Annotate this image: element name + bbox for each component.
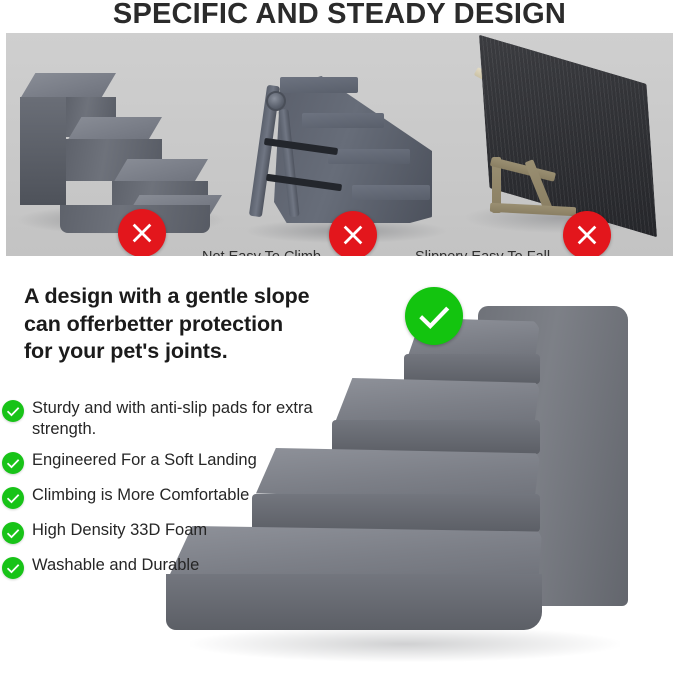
check-circle-icon [2, 487, 24, 509]
x-badge-icon [329, 211, 377, 256]
foam-stairs-illustration [14, 55, 226, 237]
comparison-panel: Not Easy To Climb Slippery Easy To Fall [6, 33, 673, 256]
check-circle-icon [2, 557, 24, 579]
check-circle-icon [2, 400, 24, 422]
comparison-item-foam-stairs [6, 33, 234, 256]
check-badge-icon [405, 287, 463, 345]
bullet-text: Climbing is More Comfortable [32, 485, 249, 506]
x-badge-icon [563, 211, 611, 256]
list-item: Sturdy and with anti-slip pads for extra… [2, 398, 347, 440]
comparison-label-not-easy-to-climb: Not Easy To Climb [202, 249, 321, 256]
page-title: SPECIFIC AND STEADY DESIGN [0, 0, 679, 33]
bullet-text: Sturdy and with anti-slip pads for extra… [32, 398, 332, 440]
bullet-text: High Density 33D Foam [32, 520, 207, 541]
x-badge-icon [118, 209, 166, 256]
check-circle-icon [2, 452, 24, 474]
bullet-text: Engineered For a Soft Landing [32, 450, 257, 471]
headline-line-1: A design with a gentle slope [24, 283, 354, 311]
product-infographic: SPECIFIC AND STEADY DESIGN [0, 0, 679, 679]
check-circle-icon [2, 522, 24, 544]
list-item: Engineered For a Soft Landing [2, 450, 347, 476]
comparison-item-wooden-ramp [456, 33, 673, 256]
headline-line-2: can offerbetter protection [24, 311, 354, 339]
feature-section: A design with a gentle slope can offerbe… [0, 256, 679, 679]
comparison-label-slippery-easy-to-fall: Slippery Easy To Fall [415, 249, 550, 256]
comparison-item-plastic-stairs [234, 33, 456, 256]
headline: A design with a gentle slope can offerbe… [24, 283, 354, 366]
bullet-text: Washable and Durable [32, 555, 199, 576]
feature-bullet-list: Sturdy and with anti-slip pads for extra… [2, 398, 347, 590]
list-item: High Density 33D Foam [2, 520, 347, 546]
list-item: Climbing is More Comfortable [2, 485, 347, 511]
list-item: Washable and Durable [2, 555, 347, 581]
headline-line-3: for your pet's joints. [24, 338, 354, 366]
wooden-ramp-illustration [466, 53, 666, 239]
